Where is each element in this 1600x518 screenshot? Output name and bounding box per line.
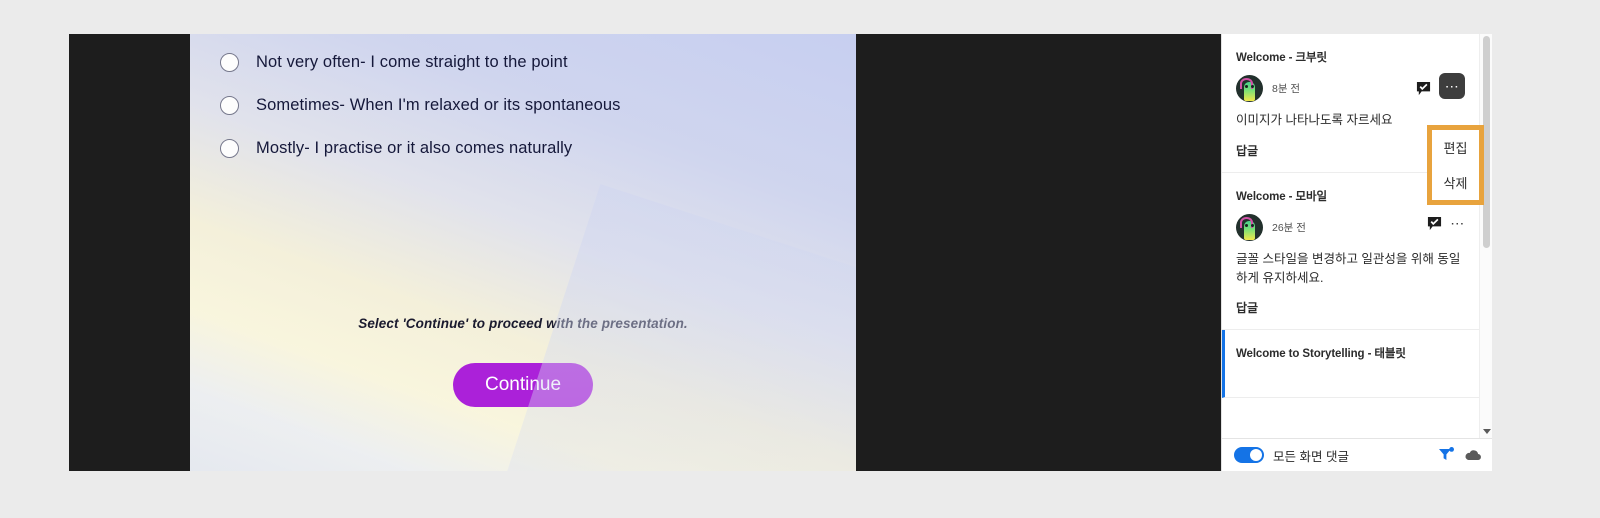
comment-timestamp: 26분 전 bbox=[1272, 220, 1418, 235]
resolve-check-bubble-icon[interactable] bbox=[1427, 216, 1442, 231]
radio-button-icon[interactable] bbox=[220, 96, 239, 115]
comment-author-meta: 26분 전 bbox=[1272, 214, 1418, 235]
all-screen-comments-toggle[interactable] bbox=[1234, 447, 1264, 463]
poll-option-1[interactable]: Sometimes- When I'm relaxed or its spont… bbox=[220, 84, 840, 127]
comment-body-text: 글꼴 스타일을 변경하고 일관성을 위해 동일하게 유지하세요. bbox=[1236, 250, 1465, 288]
reply-link[interactable]: 답글 bbox=[1236, 299, 1258, 316]
scroll-down-arrow-icon[interactable] bbox=[1483, 429, 1491, 434]
resolve-check-bubble-icon[interactable] bbox=[1416, 81, 1431, 96]
poll-options-group: Not very often- I come straight to the p… bbox=[220, 41, 840, 170]
comment-context-menu: 편집 삭제 bbox=[1427, 125, 1484, 205]
radio-button-icon[interactable] bbox=[220, 139, 239, 158]
slide-instruction-text: Select 'Continue' to proceed with the pr… bbox=[190, 316, 856, 331]
comments-panel-footer: 모든 화면 댓글 bbox=[1222, 438, 1492, 471]
presentation-stage: Not very often- I come straight to the p… bbox=[69, 34, 1221, 471]
comment-item: 26분 전 ⋯ 글꼴 스타일을 변경하고 bbox=[1222, 204, 1479, 330]
comment-thread-active[interactable]: Welcome to Storytelling - 태블릿 bbox=[1222, 330, 1479, 398]
comment-actions: ⋯ bbox=[1427, 214, 1465, 231]
comment-header: 26분 전 ⋯ bbox=[1236, 214, 1465, 241]
comments-panel: Welcome - 크부릿 8분 전 bbox=[1221, 34, 1492, 471]
cloud-sync-icon[interactable] bbox=[1464, 446, 1482, 464]
more-options-icon[interactable]: ⋯ bbox=[1439, 73, 1465, 99]
comment-actions: ⋯ bbox=[1416, 75, 1465, 99]
avatar bbox=[1236, 75, 1263, 102]
filter-funnel-icon[interactable] bbox=[1437, 446, 1455, 464]
poll-option-label: Mostly- I practise or it also comes natu… bbox=[256, 139, 572, 158]
comments-scrollbar[interactable] bbox=[1479, 34, 1492, 438]
comments-scroll-area[interactable]: Welcome - 크부릿 8분 전 bbox=[1222, 34, 1479, 438]
more-options-icon[interactable]: ⋯ bbox=[1450, 216, 1465, 231]
comment-thread-title: Welcome to Storytelling - 태블릿 bbox=[1225, 330, 1479, 361]
comment-header: 8분 전 ⋯ bbox=[1236, 75, 1465, 102]
reply-link[interactable]: 답글 bbox=[1236, 142, 1258, 159]
presentation-app-frame: Not very often- I come straight to the p… bbox=[69, 34, 1492, 471]
comment-thread-title: Welcome - 크부릿 bbox=[1222, 34, 1479, 65]
poll-option-2[interactable]: Mostly- I practise or it also comes natu… bbox=[220, 127, 840, 170]
avatar bbox=[1236, 214, 1263, 241]
continue-button[interactable]: Continue bbox=[453, 363, 593, 407]
poll-option-label: Sometimes- When I'm relaxed or its spont… bbox=[256, 96, 621, 115]
scrollbar-thumb[interactable] bbox=[1483, 36, 1490, 248]
radio-button-icon[interactable] bbox=[220, 53, 239, 72]
all-screen-comments-label: 모든 화면 댓글 bbox=[1273, 446, 1428, 465]
comment-author-meta: 8분 전 bbox=[1272, 75, 1407, 96]
context-menu-item-edit[interactable]: 편집 bbox=[1432, 130, 1479, 165]
poll-option-0[interactable]: Not very often- I come straight to the p… bbox=[220, 41, 840, 84]
slide-canvas: Not very often- I come straight to the p… bbox=[190, 34, 856, 471]
comment-timestamp: 8분 전 bbox=[1272, 81, 1407, 96]
context-menu-item-delete[interactable]: 삭제 bbox=[1432, 165, 1479, 200]
poll-option-label: Not very often- I come straight to the p… bbox=[256, 53, 568, 72]
